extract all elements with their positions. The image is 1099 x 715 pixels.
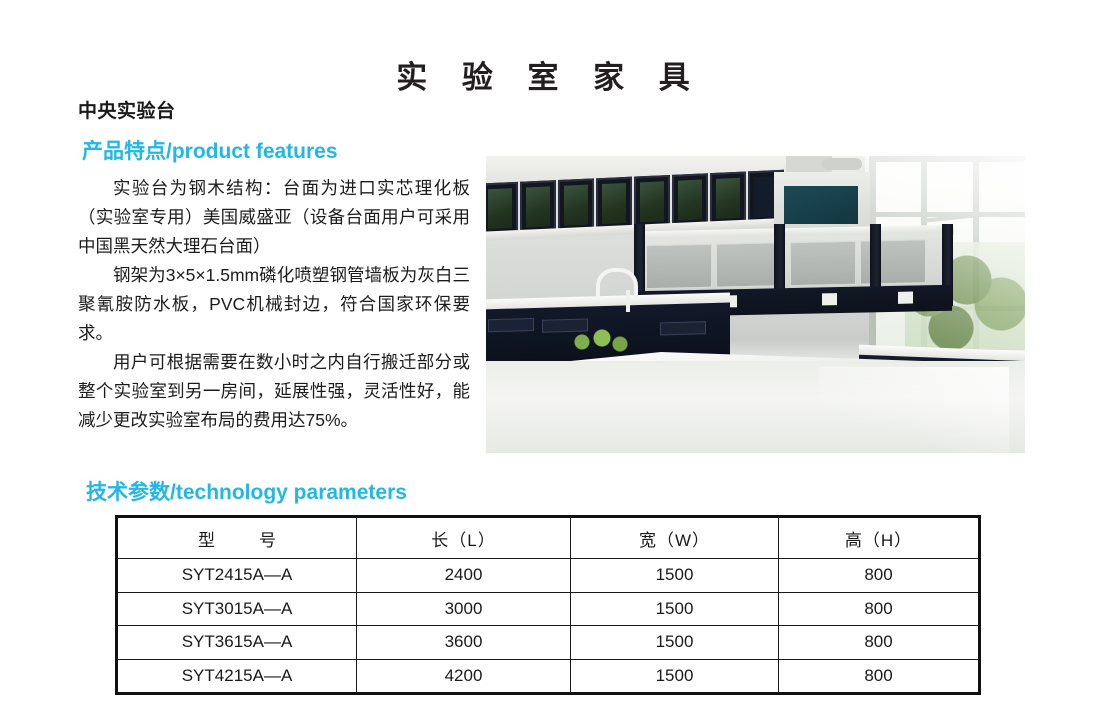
spec-table: 型号 长（L） 宽（W） 高（H） SYT2415A—A 2400 1500 8… (118, 518, 978, 692)
photo-wall-cabinet (558, 178, 594, 232)
photo-cabinet-glass (678, 180, 702, 221)
cell-width: 1500 (571, 592, 779, 626)
photo-shelf-cell (790, 241, 856, 286)
photo-wall-cabinet (672, 173, 708, 227)
photo-duct-elbow (822, 158, 862, 170)
photo-power-outlet (822, 293, 837, 305)
spec-table-container: 型号 长（L） 宽（W） 高（H） SYT2415A—A 2400 1500 8… (115, 515, 981, 695)
cell-model: SYT3015A—A (118, 592, 357, 626)
cell-height: 800 (779, 626, 979, 660)
cell-length: 2400 (357, 559, 571, 593)
feature-paragraph-2: 钢架为3×5×1.5mm磷化喷塑钢管墙板为灰白三聚氰胺防水板，PVC机械封边，符… (78, 261, 470, 348)
photo-plants (572, 328, 632, 354)
photo-wall-cabinet (710, 172, 746, 226)
photo-shelf-cell (716, 242, 782, 287)
page-title: 实 验 室 家 具 (0, 52, 1099, 97)
photo-cabinet-glass (602, 183, 626, 224)
product-features-heading: 产品特点/product features (82, 135, 470, 165)
feature-paragraph-1: 实验台为钢木结构：台面为进口实芯理化板（实验室专用）美国威盛亚（设备台面用户可采… (78, 174, 470, 261)
left-content-column: 中央实验台 产品特点/product features 实验台为钢木结构：台面为… (78, 96, 470, 435)
photo-faucet-stem (626, 290, 630, 312)
photo-drawer (488, 318, 534, 332)
table-row: SYT3615A—A 3600 1500 800 (118, 626, 978, 660)
cell-height: 800 (779, 659, 979, 692)
photo-wall-cabinet (520, 180, 556, 234)
table-header-length: 长（L） (357, 518, 571, 559)
table-header-height: 高（H） (779, 518, 979, 559)
photo-cabinet-glass (716, 178, 740, 219)
photo-faucet-arc (596, 268, 638, 298)
product-features-heading-en: product features (172, 140, 338, 163)
photo-fume-hood-panel (784, 186, 858, 224)
cell-width: 1500 (571, 659, 779, 692)
photo-shelf-cell (646, 244, 712, 289)
photo-cabinet-glass (526, 186, 550, 227)
cell-model: SYT3615A—A (118, 626, 357, 660)
photo-cabinet-glass (564, 185, 588, 226)
table-row: SYT2415A—A 2400 1500 800 (118, 559, 978, 593)
cell-width: 1500 (571, 559, 779, 593)
photo-inner (486, 156, 1025, 453)
technology-parameters-heading: 技术参数/technology parameters (86, 476, 407, 506)
photo-power-outlet (898, 292, 913, 304)
cell-model: SYT2415A—A (118, 559, 357, 593)
cell-length: 3600 (357, 626, 571, 660)
photo-floor-reflection (819, 367, 1009, 453)
product-features-heading-cn: 产品特点 (82, 140, 166, 163)
photo-cabinet-glass (640, 181, 664, 222)
photo-cabinet-glass (488, 188, 512, 229)
technology-parameters-heading-cn: 技术参数 (86, 481, 170, 504)
photo-drawer (660, 321, 706, 335)
photo-fume-hood-box (774, 172, 870, 228)
photo-wall-cabinet (634, 175, 670, 229)
laboratory-bench-photo (486, 156, 1025, 453)
photo-wall-cabinet (596, 177, 632, 231)
section-subtitle: 中央实验台 (78, 96, 470, 123)
cell-height: 800 (779, 559, 979, 593)
cell-length: 3000 (357, 592, 571, 626)
photo-wall-cabinet (486, 182, 518, 236)
cell-model: SYT4215A—A (118, 659, 357, 692)
table-header-row: 型号 长（L） 宽（W） 高（H） (118, 518, 978, 559)
cell-height: 800 (779, 592, 979, 626)
table-header-model-left: 型 (198, 531, 215, 550)
table-header-model: 型号 (118, 518, 357, 559)
photo-faucet (596, 268, 632, 310)
cell-width: 1500 (571, 626, 779, 660)
table-header-width: 宽（W） (571, 518, 779, 559)
table-row: SYT3015A—A 3000 1500 800 (118, 592, 978, 626)
cell-length: 4200 (357, 659, 571, 692)
technology-parameters-heading-en: technology parameters (176, 481, 407, 504)
table-header-model-right: 号 (259, 531, 276, 550)
table-row: SYT4215A—A 4200 1500 800 (118, 659, 978, 692)
feature-paragraph-3: 用户可根据需要在数小时之内自行搬迁部分或整个实验室到另一房间，延展性强，灵活性好… (78, 348, 470, 435)
